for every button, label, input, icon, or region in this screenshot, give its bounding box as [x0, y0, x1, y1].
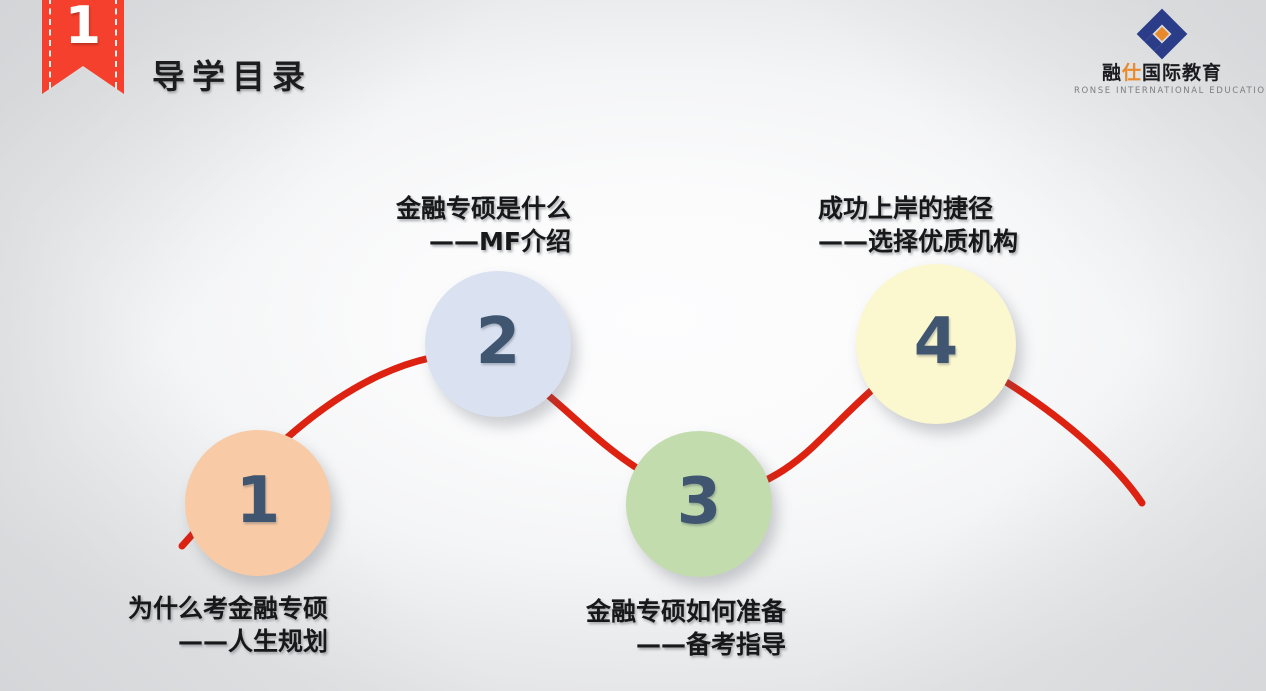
step-caption-4-line2: ——选择优质机构 [818, 225, 1018, 258]
step-number-2: 2 [476, 310, 521, 374]
step-circle-2[interactable]: 2 [425, 271, 571, 417]
step-caption-4: 成功上岸的捷径 ——选择优质机构 [818, 192, 1018, 258]
step-circle-1[interactable]: 1 [185, 430, 331, 576]
step-number-4: 4 [914, 310, 959, 374]
step-circle-4[interactable]: 4 [856, 264, 1016, 424]
step-circle-3[interactable]: 3 [626, 431, 772, 577]
step-caption-2-line2: ——MF介绍 [396, 225, 571, 258]
step-caption-1: 为什么考金融专硕 ——人生规划 [128, 592, 328, 658]
section-number: 1 [42, 0, 124, 52]
step-caption-3-line2: ——备考指导 [586, 628, 786, 661]
step-caption-3: 金融专硕如何准备 ——备考指导 [586, 595, 786, 661]
step-caption-2-line1: 金融专硕是什么 [396, 194, 571, 223]
step-number-1: 1 [236, 469, 281, 533]
step-number-3: 3 [677, 470, 722, 534]
connector-curve [0, 0, 1266, 691]
step-caption-1-line1: 为什么考金融专硕 [128, 594, 328, 623]
step-caption-1-line2: ——人生规划 [128, 625, 328, 658]
step-caption-4-line1: 成功上岸的捷径 [818, 194, 993, 223]
slide-canvas: 1 导学目录 融仕国际教育 RONSE INTERNATIONAL EDUCAT… [0, 0, 1266, 691]
step-caption-2: 金融专硕是什么 ——MF介绍 [396, 192, 571, 258]
step-caption-3-line1: 金融专硕如何准备 [586, 597, 786, 626]
